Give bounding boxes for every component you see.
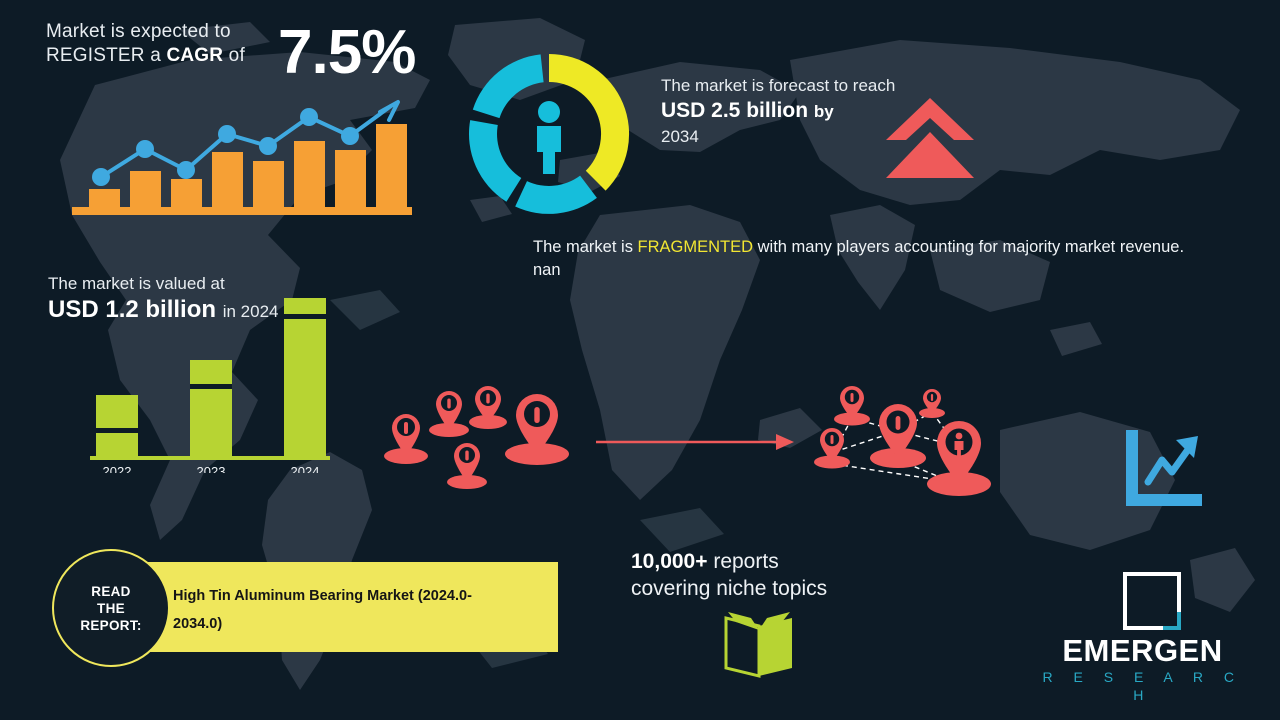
badge-line-2: THE xyxy=(80,600,141,617)
cagr-line2-post: of xyxy=(223,45,245,66)
yearly-value-bar-chart: 2022 2023 2024 xyxy=(80,288,340,473)
bar-2022 xyxy=(96,395,138,458)
read-report-badge-label: READ THE REPORT: xyxy=(80,583,141,634)
fragmentation-statement: The market is FRAGMENTED with many playe… xyxy=(533,236,1213,282)
forecast-value: USD 2.5 billion by xyxy=(661,97,901,125)
forecast-block: The market is forecast to reach USD 2.5 … xyxy=(661,74,901,148)
analytics-chart-icon xyxy=(1122,430,1204,508)
forecast-year: 2034 xyxy=(661,125,901,148)
donut-slice-b xyxy=(469,120,521,202)
forecast-amount: USD 2.5 billion xyxy=(661,99,808,122)
bar-2023 xyxy=(190,360,232,458)
badge-line-1: READ xyxy=(80,583,141,600)
bar-2024 xyxy=(284,298,326,458)
donut-slice-leading xyxy=(549,54,629,191)
reports-count-block: 10,000+ reports covering niche topics xyxy=(631,548,931,602)
read-report-badge[interactable]: READ THE REPORT: xyxy=(52,549,170,667)
x-tick-2024: 2024 xyxy=(291,464,320,473)
cagr-keyword: CAGR xyxy=(166,45,223,66)
donut-slice-c xyxy=(515,176,597,214)
growth-bar-line-chart xyxy=(62,86,412,222)
read-report-banner[interactable]: High Tin Aluminum Bearing Market (2024.0… xyxy=(140,562,558,652)
person-icon xyxy=(537,101,561,174)
cagr-value: 7.5% xyxy=(278,16,415,90)
frag-highlight: FRAGMENTED xyxy=(638,238,754,256)
logo-subtitle: R E S E A R C H xyxy=(1035,668,1250,704)
badge-line-3: REPORT: xyxy=(80,617,141,634)
x-tick-2022: 2022 xyxy=(103,464,132,473)
market-share-donut-chart xyxy=(463,48,635,220)
reports-count: 10,000+ xyxy=(631,550,708,573)
x-tick-2023: 2023 xyxy=(197,464,226,473)
connected-location-pins xyxy=(802,386,1012,502)
report-title: High Tin Aluminum Bearing Market (2024.0… xyxy=(173,582,503,638)
cagr-line2-pre: REGISTER a xyxy=(46,45,166,66)
logo-wordmark: EMERGEN xyxy=(1035,634,1250,668)
transition-arrow-icon xyxy=(596,432,796,452)
logo-mark-icon xyxy=(1123,572,1181,630)
forecast-line-1: The market is forecast to reach xyxy=(661,74,901,97)
cagr-block: Market is expected to REGISTER a CAGR of… xyxy=(46,20,476,68)
frag-pre: The market is xyxy=(533,238,638,256)
reports-subline: covering niche topics xyxy=(631,575,931,602)
reports-count-suffix: reports xyxy=(708,550,779,573)
reports-count-line: 10,000+ reports xyxy=(631,548,931,575)
open-book-icon xyxy=(718,608,800,678)
infographic-canvas: Market is expected to REGISTER a CAGR of… xyxy=(0,0,1280,720)
growth-chevron-icon xyxy=(884,96,976,180)
scattered-location-pins xyxy=(382,386,582,490)
forecast-by: by xyxy=(814,102,834,121)
donut-slice-a xyxy=(473,54,544,118)
